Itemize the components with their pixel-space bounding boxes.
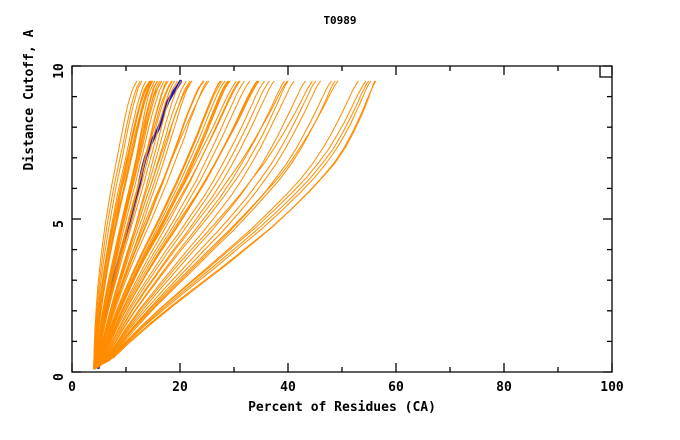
chart-page: T0989 Distance Cutoff, A Percent of Resi… [0, 0, 680, 440]
x-tick-label: 40 [280, 380, 296, 395]
y-tick-label: 0 [52, 373, 67, 381]
data-series-group [94, 81, 376, 369]
y-tick-label: 10 [52, 63, 67, 79]
plot-area: 0204060801000510 [0, 0, 680, 440]
x-tick-label: 80 [496, 380, 512, 395]
x-tick-label: 100 [600, 380, 624, 395]
x-tick-label: 60 [388, 380, 404, 395]
y-tick-label: 5 [52, 220, 67, 228]
x-tick-label: 20 [172, 380, 188, 395]
x-tick-label: 0 [68, 380, 76, 395]
